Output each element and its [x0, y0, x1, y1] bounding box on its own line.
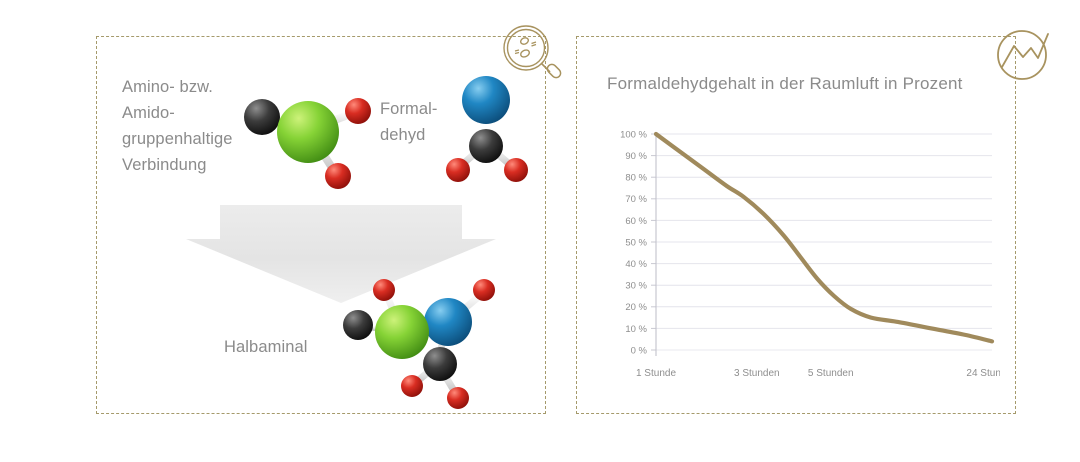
screenshot-root: Amino- bzw. Amido- gruppenhaltige Verbin…	[0, 0, 1080, 462]
chart-title: Formaldehydgehalt in der Raumluft in Pro…	[607, 74, 963, 94]
chart-y-tick-label: 60 %	[625, 216, 647, 227]
hemiaminal-molecule	[322, 268, 522, 412]
formaldehyde-molecule	[432, 68, 542, 190]
chart-x-axis-labels: 1 Stunde3 Stunden5 Stunden24 Stunden	[636, 368, 1000, 379]
chart-y-tick-label: 90 %	[625, 151, 647, 162]
formaldehyde-decay-line-chart: 100 %90 %80 %70 %60 %50 %40 %30 %20 %10 …	[596, 120, 1000, 380]
chart-y-tick-label: 20 %	[625, 302, 647, 313]
chart-x-tick-label: 3 Stunden	[734, 368, 780, 379]
chart-y-tick-label: 70 %	[625, 194, 647, 205]
chart-y-tick-label: 10 %	[625, 324, 647, 335]
chart-y-tick-label: 40 %	[625, 259, 647, 270]
chart-y-tick-label: 0 %	[631, 345, 648, 356]
chart-y-axis-labels: 100 %90 %80 %70 %60 %50 %40 %30 %20 %10 …	[620, 129, 647, 356]
chart-x-tick-label: 1 Stunde	[636, 368, 676, 379]
amine-compound-molecule	[228, 78, 398, 198]
chart-y-tick-label: 50 %	[625, 237, 647, 248]
chart-y-tick-label: 30 %	[625, 281, 647, 292]
trend-circle-icon	[992, 22, 1058, 88]
chart-x-tick-label: 24 Stunden	[966, 368, 1000, 379]
chart-line	[656, 134, 992, 341]
chart-x-tick-label: 5 Stunden	[808, 368, 854, 379]
hemiaminal-label: Halbaminal	[224, 338, 308, 357]
chart-series-line	[656, 134, 992, 341]
chart-y-tick-label: 100 %	[620, 129, 647, 140]
chart-y-tick-label: 80 %	[625, 173, 647, 184]
